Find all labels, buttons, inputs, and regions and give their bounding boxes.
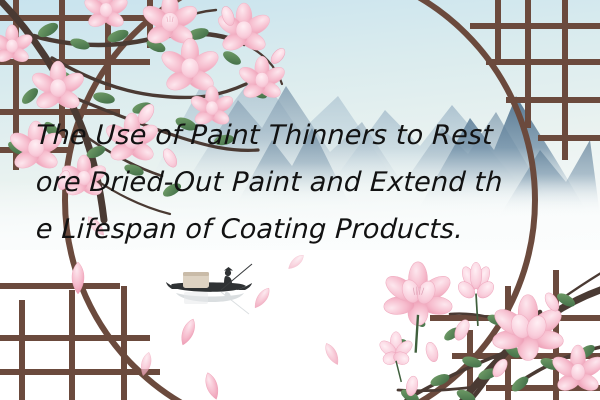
blossom-branch-bottom-right <box>377 262 600 400</box>
falling-petals <box>72 214 342 400</box>
poster-canvas: The Use of Paint Thinners to Rest ore Dr… <box>0 0 600 400</box>
blossom-branch-top-left <box>0 0 288 220</box>
blossom-branches <box>0 0 600 400</box>
